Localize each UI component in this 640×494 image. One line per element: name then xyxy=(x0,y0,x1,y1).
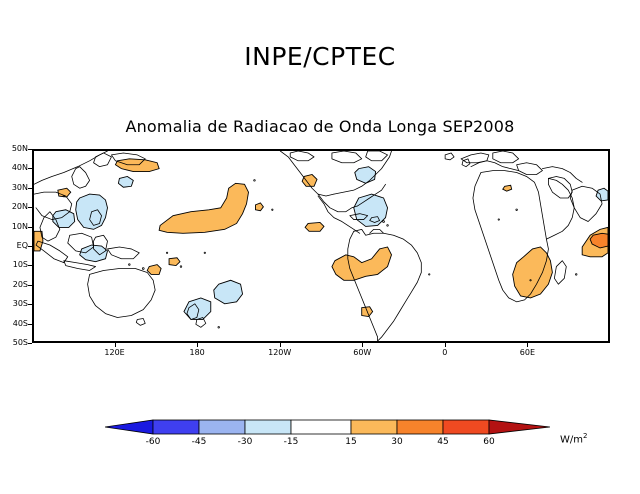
colorbar-swatch-5 xyxy=(351,420,397,434)
y-axis-tick xyxy=(28,227,32,228)
colorbar-swatches xyxy=(105,417,550,437)
olr-anomaly-map xyxy=(34,151,608,341)
y-axis-tick xyxy=(28,188,32,189)
colorbar-swatch-above-max xyxy=(489,420,550,434)
y-axis-label: 50N xyxy=(0,145,28,153)
colorbar-tick-label: -30 xyxy=(238,438,253,447)
x-axis-label: 180 xyxy=(190,349,205,357)
anomaly-patch-north-pacific-hook xyxy=(159,183,248,233)
colorbar-tick-label: -15 xyxy=(284,438,299,447)
y-axis-tick xyxy=(28,265,32,266)
colorbar-swatch-4 xyxy=(291,420,351,434)
anomaly-patch-nw-atlantic-negative xyxy=(355,167,376,184)
y-axis-label: 20N xyxy=(0,203,28,211)
figure-subtitle: Anomalia de Radiacao de Onda Longa SEP20… xyxy=(0,117,640,136)
anomaly-patch-nw-pacific-positive xyxy=(115,159,159,172)
y-axis-tick xyxy=(28,324,32,325)
y-axis-label: 40N xyxy=(0,164,28,172)
x-axis-tick xyxy=(280,343,281,347)
x-axis-label: 120W xyxy=(268,349,291,357)
colorbar-swatch-7 xyxy=(443,420,489,434)
anomaly-patch-sahara-positive xyxy=(503,185,512,191)
anomaly-patch-sw-pacific-positive xyxy=(169,258,180,266)
anomaly-shading-layer xyxy=(34,159,608,320)
y-axis-label: 50S xyxy=(0,339,28,347)
colorbar-swatch-1 xyxy=(153,420,199,434)
x-axis-label: 60E xyxy=(520,349,535,357)
anomaly-patch-south-america-positive xyxy=(332,247,392,280)
x-axis-tick xyxy=(445,343,446,347)
anomaly-patch-east-pacific-positive xyxy=(305,222,324,231)
colorbar-tick-label: 15 xyxy=(345,438,356,447)
colorbar-tick-label: -60 xyxy=(146,438,161,447)
colorbar-swatch-3 xyxy=(245,420,291,434)
colorbar-tick-label: -45 xyxy=(192,438,207,447)
y-axis-label: 20S xyxy=(0,281,28,289)
institute-title: INPE/CPTEC xyxy=(0,42,640,71)
x-axis-tick xyxy=(115,343,116,347)
anomaly-patch-coral-sea-positive xyxy=(147,265,161,275)
colorbar xyxy=(105,417,550,437)
colorbar-swatch-2 xyxy=(199,420,245,434)
unit-base: W/m xyxy=(560,434,583,445)
y-axis-tick xyxy=(28,246,32,247)
map-plot-area xyxy=(32,149,610,343)
x-axis-tick xyxy=(362,343,363,347)
y-axis-tick xyxy=(28,343,32,344)
x-axis-label: 120E xyxy=(104,349,124,357)
x-axis-label: 0 xyxy=(442,349,447,357)
anomaly-patch-arabian-sea-negative xyxy=(596,188,608,201)
colorbar-tick-label: 30 xyxy=(391,438,402,447)
y-axis-label: 30N xyxy=(0,184,28,192)
colorbar-tick-label: 60 xyxy=(483,438,494,447)
colorbar-unit-label: W/m2 xyxy=(560,432,587,445)
y-axis-tick xyxy=(28,168,32,169)
y-axis-label: EQ xyxy=(0,242,28,250)
anomaly-patch-wake-island-positive xyxy=(255,203,263,211)
y-axis-tick xyxy=(28,304,32,305)
y-axis-label: 10S xyxy=(0,261,28,269)
y-axis-tick xyxy=(28,149,32,150)
y-axis-label: 40S xyxy=(0,320,28,328)
anomaly-patch-japan-south-negative xyxy=(118,176,133,187)
unit-exponent: 2 xyxy=(583,432,587,440)
y-axis-label: 30S xyxy=(0,300,28,308)
anomaly-patch-south-pacific-negative xyxy=(214,280,243,304)
colorbar-tick-label: 45 xyxy=(437,438,448,447)
y-axis-tick xyxy=(28,285,32,286)
x-axis-tick xyxy=(527,343,528,347)
y-axis-label: 10N xyxy=(0,223,28,231)
colorbar-swatch-below-min xyxy=(105,420,153,434)
x-axis-label: 60W xyxy=(353,349,371,357)
colorbar-swatch-6 xyxy=(397,420,443,434)
figure-canvas: INPE/CPTEC Anomalia de Radiacao de Onda … xyxy=(0,0,640,494)
x-axis-tick xyxy=(197,343,198,347)
y-axis-tick xyxy=(28,207,32,208)
